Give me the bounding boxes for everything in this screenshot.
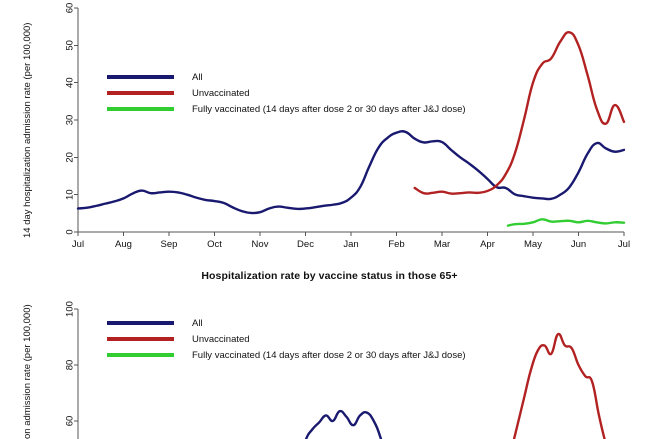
x-tick-label: Oct [207,239,222,250]
legend-swatch-unvaccinated [107,337,174,341]
y-tick-label: 0 [64,229,75,234]
x-tick-label: Nov [252,239,269,250]
plot-area-all-ages: 0102030405060JulAugSepOctNovDecJanFebMar… [0,0,659,262]
y-tick-label: 80 [64,360,75,371]
legend-item-all: All [107,315,466,331]
legend-item-unvaccinated: Unvaccinated [107,85,466,101]
x-tick-label: Sep [161,239,178,250]
y-tick-label: 30 [64,115,75,126]
legend-swatch-all [107,75,174,79]
y-tick-label: 60 [64,416,75,427]
x-tick-label: Dec [297,239,314,250]
x-tick-label: Aug [115,239,132,250]
legend-item-fully-vaccinated: Fully vaccinated (14 days after dose 2 o… [107,101,466,117]
series-line-all [285,411,401,439]
legend-label-fully-vaccinated: Fully vaccinated (14 days after dose 2 o… [192,350,466,361]
legend-swatch-unvaccinated [107,91,174,95]
legend-label-all: All [192,318,203,329]
x-tick-label: Feb [388,239,404,250]
legend-label-unvaccinated: Unvaccinated [192,88,250,99]
y-tick-label: 50 [64,40,75,51]
x-tick-label: Apr [480,239,495,250]
chart-panel-age-65-plus: Hospitalization rate by vaccine status i… [0,262,659,439]
legend-all-ages: All Unvaccinated Fully vaccinated (14 da… [107,69,466,117]
x-tick-label: Jul [618,239,630,250]
x-tick-label: Mar [434,239,450,250]
x-tick-label: Jun [571,239,586,250]
x-tick-label: Jan [343,239,358,250]
y-tick-label: 100 [64,301,75,317]
x-tick-label: Jul [72,239,84,250]
legend-item-fully-vaccinated: Fully vaccinated (14 days after dose 2 o… [107,347,466,363]
legend-swatch-fully-vaccinated [107,107,174,111]
y-tick-label: 20 [64,152,75,163]
legend-label-fully-vaccinated: Fully vaccinated (14 days after dose 2 o… [192,104,466,115]
legend-swatch-fully-vaccinated [107,353,174,357]
x-tick-label: May [524,239,542,250]
chart-panel-all-ages: 14 day hospitalization admission rate (p… [0,0,659,262]
y-tick-label: 60 [64,3,75,14]
legend-item-all: All [107,69,466,85]
series-line-fully [508,219,624,225]
y-tick-label: 10 [64,189,75,200]
legend-swatch-all [107,321,174,325]
series-line-unvaccinated [497,334,624,439]
y-tick-label: 40 [64,77,75,88]
series-line-all [78,131,624,213]
legend-item-unvaccinated: Unvaccinated [107,331,466,347]
legend-label-unvaccinated: Unvaccinated [192,334,250,345]
legend-age-65-plus: All Unvaccinated Fully vaccinated (14 da… [107,315,466,363]
legend-label-all: All [192,72,203,83]
